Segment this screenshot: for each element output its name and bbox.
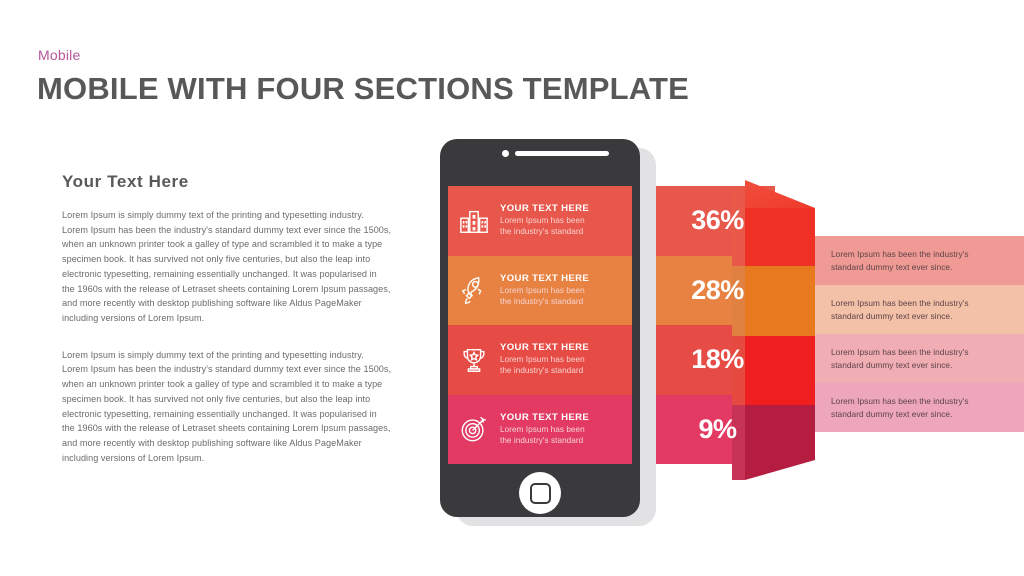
phone-section-2[interactable]: YOUR TEXT HERE Lorem Ipsum has been the … [448, 256, 632, 326]
section-subtitle-line2: the industry's standard [500, 227, 626, 238]
slide-kicker: Mobile [38, 47, 80, 63]
rocket-icon [448, 275, 500, 305]
page-title: MOBILE WITH FOUR SECTIONS TEMPLATE [37, 71, 689, 107]
section-title: YOUR TEXT HERE [500, 273, 626, 284]
caption-panel-3: Lorem Ipsum has been the industry's stan… [815, 334, 1024, 383]
caption-panel-3-text: Lorem Ipsum has been the industry's stan… [815, 346, 983, 372]
phone-section-4-text: YOUR TEXT HERE Lorem Ipsum has been the … [500, 412, 632, 447]
slide-canvas: Mobile MOBILE WITH FOUR SECTIONS TEMPLAT… [0, 0, 1024, 576]
caption-line1: Lorem Ipsum has been the industry's [831, 297, 969, 310]
left-heading: Your Text Here [62, 172, 392, 192]
section-subtitle-line2: the industry's standard [500, 436, 626, 447]
percent-value-4: 9% [660, 395, 775, 465]
building-icon [448, 206, 500, 236]
section-subtitle-line1: Lorem Ipsum has been [500, 355, 626, 366]
phone-mockup: YOUR TEXT HERE Lorem Ipsum has been the … [440, 139, 640, 517]
phone-section-2-text: YOUR TEXT HERE Lorem Ipsum has been the … [500, 273, 632, 308]
caption-panel-2: Lorem Ipsum has been the industry's stan… [815, 285, 1024, 334]
section-subtitle-line1: Lorem Ipsum has been [500, 286, 626, 297]
section-subtitle-line2: the industry's standard [500, 297, 626, 308]
caption-line2: standard dummy text ever since. [831, 359, 969, 372]
caption-line2: standard dummy text ever since. [831, 261, 969, 274]
caption-panel-1: Lorem Ipsum has been the industry's stan… [815, 236, 1024, 285]
percent-value-2: 28% [660, 256, 775, 326]
caption-panel-stack: Lorem Ipsum has been the industry's stan… [815, 236, 1024, 432]
home-button[interactable] [519, 472, 561, 514]
caption-panel-1-text: Lorem Ipsum has been the industry's stan… [815, 248, 983, 274]
phone-section-3-text: YOUR TEXT HERE Lorem Ipsum has been the … [500, 342, 632, 377]
section-subtitle-line1: Lorem Ipsum has been [500, 216, 626, 227]
caption-panel-4: Lorem Ipsum has been the industry's stan… [815, 383, 1024, 432]
speaker-grille-icon [515, 151, 609, 156]
target-icon [448, 414, 500, 444]
section-title: YOUR TEXT HERE [500, 412, 626, 423]
percent-value-3: 18% [660, 325, 775, 395]
left-text-column: Your Text Here Lorem Ipsum is simply dum… [62, 172, 392, 488]
percent-value-1: 36% [660, 186, 775, 256]
caption-line1: Lorem Ipsum has been the industry's [831, 248, 969, 261]
section-subtitle-line1: Lorem Ipsum has been [500, 425, 626, 436]
phone-section-1-text: YOUR TEXT HERE Lorem Ipsum has been the … [500, 203, 632, 238]
caption-line2: standard dummy text ever since. [831, 408, 969, 421]
percent-column: 36% 28% 18% 9% [660, 186, 775, 464]
left-paragraph-2: Lorem Ipsum is simply dummy text of the … [62, 348, 392, 466]
caption-line1: Lorem Ipsum has been the industry's [831, 395, 969, 408]
section-title: YOUR TEXT HERE [500, 342, 626, 353]
caption-line2: standard dummy text ever since. [831, 310, 969, 323]
phone-section-3[interactable]: YOUR TEXT HERE Lorem Ipsum has been the … [448, 325, 632, 395]
caption-panel-4-text: Lorem Ipsum has been the industry's stan… [815, 395, 983, 421]
section-title: YOUR TEXT HERE [500, 203, 626, 214]
phone-section-1[interactable]: YOUR TEXT HERE Lorem Ipsum has been the … [448, 186, 632, 256]
caption-panel-2-text: Lorem Ipsum has been the industry's stan… [815, 297, 983, 323]
trophy-icon [448, 345, 500, 375]
caption-line1: Lorem Ipsum has been the industry's [831, 346, 969, 359]
phone-section-4[interactable]: YOUR TEXT HERE Lorem Ipsum has been the … [448, 395, 632, 465]
section-subtitle-line2: the industry's standard [500, 366, 626, 377]
left-paragraph-1: Lorem Ipsum is simply dummy text of the … [62, 208, 392, 326]
phone-screen: YOUR TEXT HERE Lorem Ipsum has been the … [448, 186, 632, 464]
camera-icon [502, 150, 509, 157]
